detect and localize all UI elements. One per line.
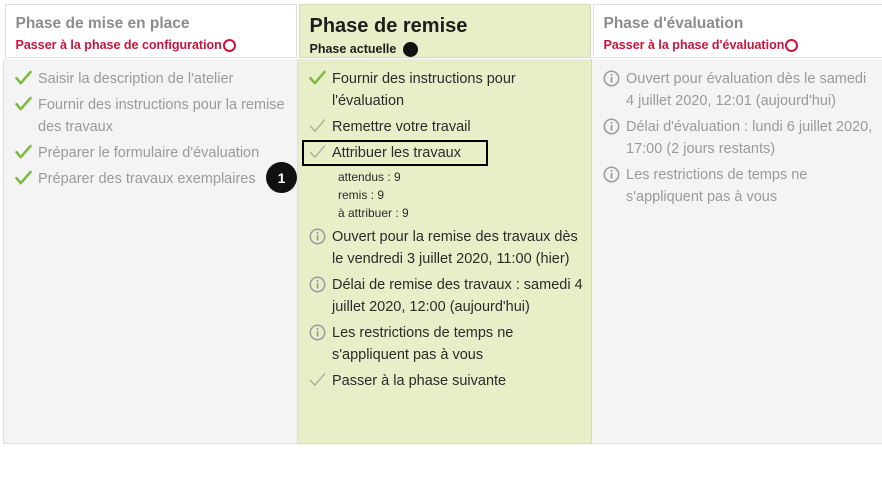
task-item[interactable]: Ouvert pour la remise des travaux dès le… (304, 226, 583, 270)
phase-body-assessment: Ouvert pour évaluation dès le samedi 4 j… (592, 59, 882, 443)
task-item[interactable]: Les restrictions de temps ne s'appliquen… (598, 164, 877, 208)
task-item[interactable]: Délai de remise des travaux : samedi 4 j… (304, 274, 583, 318)
info-icon (304, 322, 330, 341)
phase-title: Phase de remise (310, 14, 580, 39)
task-label: Passer à la phase suivante (330, 370, 506, 392)
circle-open-icon (785, 39, 798, 52)
task-label: Préparer des travaux exemplaires (36, 168, 256, 190)
current-phase-indicator: Phase actuelle (310, 41, 419, 57)
task-label: Ouvert pour la remise des travaux dès le… (330, 226, 583, 270)
check-done-icon (304, 68, 330, 87)
task-label: Saisir la description de l'atelier (36, 68, 233, 90)
task-item-highlighted[interactable]: Attribuer les travaux (304, 142, 486, 164)
task-label: Fournir des instructions pour l'évaluati… (330, 68, 583, 112)
check-todo-icon (304, 116, 330, 135)
task-stat-item: attendus : 9 (338, 168, 583, 186)
info-icon (598, 116, 624, 135)
task-label: Délai d'évaluation : lundi 6 juillet 202… (624, 116, 877, 160)
task-label: Remettre votre travail (330, 116, 471, 138)
task-item[interactable]: Préparer des travaux exemplaires (10, 168, 289, 190)
phase-title: Phase de mise en place (16, 14, 286, 33)
task-item[interactable]: Délai d'évaluation : lundi 6 juillet 202… (598, 116, 877, 160)
task-label: Attribuer les travaux (330, 142, 461, 164)
task-list-submission: Fournir des instructions pour l'évaluati… (304, 68, 583, 392)
info-icon (304, 226, 330, 245)
workshop-phases-table: Phase de mise en place Passer à la phase… (3, 3, 882, 444)
phase-header-submission: Phase de remise Phase actuelle (299, 4, 591, 58)
check-todo-icon (304, 370, 330, 389)
phase-body-submission: Fournir des instructions pour l'évaluati… (298, 59, 592, 443)
phase-column-submission: Phase de remise Phase actuelle (298, 3, 592, 59)
task-item[interactable]: Fournir des instructions pour l'évaluati… (304, 68, 583, 112)
task-item[interactable]: Les restrictions de temps ne s'appliquen… (304, 322, 583, 366)
phase-title: Phase d'évaluation (604, 14, 874, 33)
info-icon (598, 68, 624, 87)
phase-header-setup: Phase de mise en place Passer à la phase… (5, 4, 297, 58)
task-list-assessment: Ouvert pour évaluation dès le samedi 4 j… (598, 68, 877, 208)
current-phase-label: Phase actuelle (310, 41, 397, 57)
task-item[interactable]: Préparer le formulaire d'évaluation (10, 142, 289, 164)
task-stat-item: à attribuer : 9 (338, 204, 583, 222)
phase-column-assessment: Phase d'évaluation Passer à la phase d'é… (592, 3, 882, 59)
task-label: Fournir des instructions pour la remise … (36, 94, 289, 138)
check-done-icon (10, 94, 36, 113)
circle-filled-icon (403, 42, 418, 57)
circle-open-icon (223, 39, 236, 52)
phase-column-setup: Phase de mise en place Passer à la phase… (4, 3, 298, 59)
check-done-icon (10, 68, 36, 87)
task-label: Préparer le formulaire d'évaluation (36, 142, 259, 164)
task-item[interactable]: Saisir la description de l'atelier (10, 68, 289, 90)
task-stat-item: remis : 9 (338, 186, 583, 204)
check-done-icon (10, 142, 36, 161)
check-done-icon (10, 168, 36, 187)
task-stats-list: attendus : 9remis : 9à attribuer : 9 (304, 168, 583, 222)
task-item[interactable]: Remettre votre travail (304, 116, 583, 138)
info-icon (598, 164, 624, 183)
phase-header-assessment: Phase d'évaluation Passer à la phase d'é… (593, 4, 882, 58)
phase-headers-row: Phase de mise en place Passer à la phase… (4, 3, 882, 59)
marker-badge-number: 1 (278, 170, 286, 186)
switch-phase-label: Passer à la phase d'évaluation (604, 37, 785, 53)
task-label: Les restrictions de temps ne s'appliquen… (330, 322, 583, 366)
task-label: Ouvert pour évaluation dès le samedi 4 j… (624, 68, 877, 112)
switch-phase-link-setup[interactable]: Passer à la phase de configuration (16, 37, 236, 53)
task-label: Délai de remise des travaux : samedi 4 j… (330, 274, 583, 318)
phase-bodies-row: Saisir la description de l'atelierFourni… (4, 59, 882, 443)
switch-phase-link-assessment[interactable]: Passer à la phase d'évaluation (604, 37, 799, 53)
task-label: Les restrictions de temps ne s'appliquen… (624, 164, 877, 208)
marker-badge-1: 1 (266, 162, 297, 193)
task-list-setup: Saisir la description de l'atelierFourni… (10, 68, 289, 190)
task-item[interactable]: Ouvert pour évaluation dès le samedi 4 j… (598, 68, 877, 112)
task-item[interactable]: Fournir des instructions pour la remise … (10, 94, 289, 138)
check-todo-icon (304, 142, 330, 161)
info-icon (304, 274, 330, 293)
switch-phase-label: Passer à la phase de configuration (16, 37, 222, 53)
phase-body-setup: Saisir la description de l'atelierFourni… (4, 59, 298, 443)
task-item[interactable]: Passer à la phase suivante (304, 370, 583, 392)
